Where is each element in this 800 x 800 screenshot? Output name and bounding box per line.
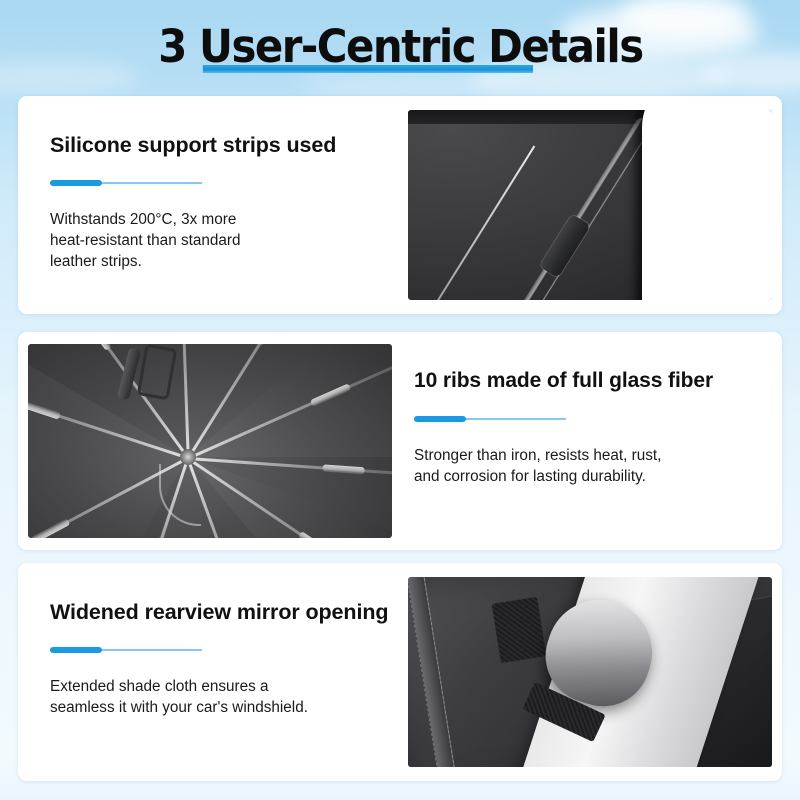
divider-thick-bar <box>50 647 102 653</box>
feature-card-1-text: Silicone support strips used Withstands … <box>18 96 408 314</box>
feature-card-2-title: 10 ribs made of full glass fiber <box>414 368 762 394</box>
umbrella-hub <box>180 449 196 465</box>
feature-card-1: Silicone support strips used Withstands … <box>18 96 782 314</box>
silicone-strip-body <box>503 116 653 300</box>
feature-card-2: 10 ribs made of full glass fiber Stronge… <box>18 332 782 550</box>
feature-card-3-body: Extended shade cloth ensures a seamless … <box>50 676 380 718</box>
umbrella-handle <box>117 347 141 400</box>
feature-card-1-body: Withstands 200°C, 3x more heat-resistant… <box>50 209 380 272</box>
body-line: heat-resistant than standard <box>50 230 380 251</box>
divider-thick-bar <box>414 416 466 422</box>
feature-card-1-title: Silicone support strips used <box>50 132 388 158</box>
feature-card-2-divider <box>414 416 566 422</box>
support-wire <box>414 146 534 300</box>
page-title-text: 3 User-Centric Details <box>158 20 642 73</box>
feature-card-3: Widened rearview mirror opening Extended… <box>18 563 782 781</box>
umbrella-ribs-photo <box>28 344 392 538</box>
product-feature-page: 3 User-Centric Details Silicone support … <box>0 0 800 800</box>
page-title: 3 User-Centric Details <box>158 18 642 76</box>
feature-card-3-title: Widened rearview mirror opening <box>50 599 388 625</box>
feature-card-3-text: Widened rearview mirror opening Extended… <box>18 563 408 781</box>
umbrella-handle-loop <box>137 344 178 400</box>
body-line: leather strips. <box>50 251 380 272</box>
feature-card-2-body: Stronger than iron, resists heat, rust, … <box>414 445 744 487</box>
body-line: and corrosion for lasting durability. <box>414 466 744 487</box>
page-title-wrap: 3 User-Centric Details <box>0 18 800 80</box>
rearview-mirror-opening-photo <box>408 577 772 767</box>
divider-thick-bar <box>50 180 102 186</box>
velcro-patch <box>491 597 546 663</box>
silicone-strip-tab <box>539 213 591 277</box>
feature-card-1-divider <box>50 180 202 186</box>
body-line: Extended shade cloth ensures a <box>50 676 380 697</box>
body-line: seamless it with your car's windshield. <box>50 697 380 718</box>
sunshade-rounded-corner <box>642 110 772 300</box>
body-line: Withstands 200°C, 3x more <box>50 209 380 230</box>
body-line: Stronger than iron, resists heat, rust, <box>414 445 744 466</box>
feature-card-2-text: 10 ribs made of full glass fiber Stronge… <box>392 332 782 550</box>
silicone-support-strip-photo <box>408 110 772 300</box>
feature-card-3-divider <box>50 647 202 653</box>
